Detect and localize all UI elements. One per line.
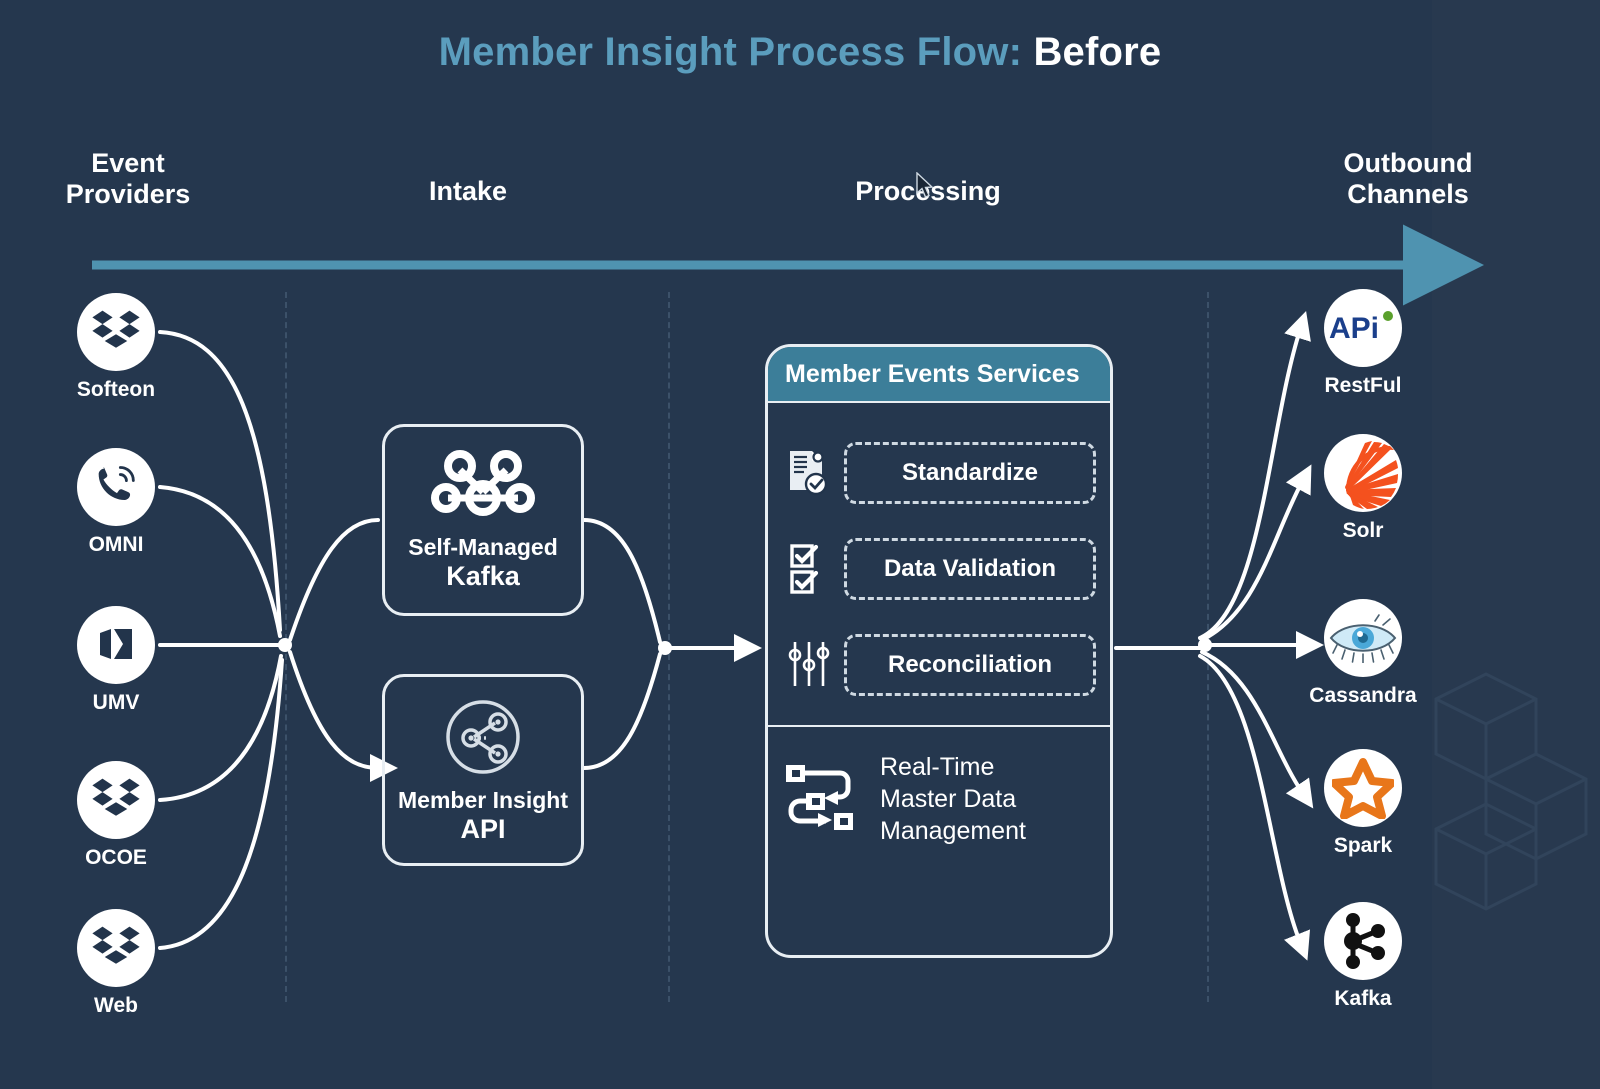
ocoe-disc [77, 761, 155, 839]
node-web[interactable]: Web [38, 909, 194, 1018]
dropbox-diamond-icon [89, 921, 143, 975]
page-title-accent: Before [1033, 30, 1161, 74]
node-softeon[interactable]: Softeon [38, 293, 194, 402]
solr-sunburst-icon [1324, 434, 1402, 512]
page-title-main: Member Insight Process Flow: [439, 30, 1023, 74]
process-step-standardize[interactable]: Standardize [768, 425, 1110, 521]
document-check-icon [785, 448, 833, 498]
sliders-icon [785, 638, 833, 692]
node-label: Cassandra [1285, 684, 1441, 708]
checkboxes-icon [786, 542, 832, 596]
page-title: Member Insight Process Flow: Before [0, 30, 1600, 75]
node-label: OMNI [38, 533, 194, 557]
api-share-icon [441, 695, 525, 779]
node-umv[interactable]: UMV [38, 606, 194, 715]
workflow-icon [782, 757, 866, 837]
phone-signal-icon [90, 461, 142, 513]
divider-providers-intake [285, 292, 287, 1002]
mdm-label: Real-Time Master Data Management [880, 751, 1026, 847]
kafka-out-disc [1324, 902, 1402, 980]
process-step-reconciliation[interactable]: Reconciliation [768, 617, 1110, 713]
link-api-midjunction [584, 654, 660, 768]
node-label: Spark [1285, 834, 1441, 858]
card-line2: API [460, 814, 505, 845]
junction-dot-right [1198, 638, 1212, 652]
standardize-icon-wrap [778, 448, 840, 498]
cassandra-disc [1324, 599, 1402, 677]
step-label: Data Validation [884, 555, 1056, 583]
kafka-nodes-icon [430, 448, 536, 526]
api-logo-icon: APi [1326, 306, 1400, 350]
reconciliation-chip[interactable]: Reconciliation [844, 634, 1096, 696]
api-icon-wrap [441, 695, 525, 784]
node-ocoe[interactable]: OCOE [38, 761, 194, 870]
link-kafka-midjunction [584, 520, 660, 642]
card-line1: Self-Managed [408, 535, 558, 561]
divider-processing-outbound [1207, 292, 1209, 1002]
link-junction-api [290, 652, 378, 768]
process-footer-real-time-mdm[interactable]: Real-Time Master Data Management [768, 727, 1110, 847]
node-kafka-out[interactable]: Kafka [1285, 902, 1441, 1011]
node-label: Web [38, 994, 194, 1018]
column-header-processing: Processing [820, 176, 1036, 207]
cassandra-eye-icon [1327, 613, 1399, 663]
omni-disc [77, 448, 155, 526]
umv-monogram-icon [92, 621, 140, 669]
node-omni[interactable]: OMNI [38, 448, 194, 557]
standardize-chip[interactable]: Standardize [844, 442, 1096, 504]
divider-intake-processing [668, 292, 670, 1002]
card-self-managed-kafka[interactable]: Self-Managed Kafka [382, 424, 584, 616]
panel-body: Standardize [768, 403, 1110, 847]
spark-disc [1324, 749, 1402, 827]
panel-title: Member Events Services [785, 360, 1080, 389]
kafka-icon-wrap [430, 448, 536, 531]
node-restful[interactable]: APi RestFul [1285, 289, 1441, 398]
node-label: Kafka [1285, 987, 1441, 1011]
node-cassandra[interactable]: Cassandra [1285, 599, 1441, 708]
panel-header: Member Events Services [768, 347, 1110, 403]
node-label: Softeon [38, 378, 194, 402]
node-solr[interactable]: Solr [1285, 434, 1441, 543]
member-events-services-panel[interactable]: Member Events Services [765, 344, 1113, 958]
web-disc [77, 909, 155, 987]
data-validation-icon-wrap [778, 542, 840, 596]
node-label: RestFul [1285, 374, 1441, 398]
node-label: Solr [1285, 519, 1441, 543]
spark-star-icon [1332, 757, 1394, 819]
softeon-disc [77, 293, 155, 371]
solr-disc [1324, 434, 1402, 512]
step-label: Standardize [902, 459, 1038, 487]
restful-disc: APi [1324, 289, 1402, 367]
dropbox-diamond-icon [89, 305, 143, 359]
diagram-canvas: Member Insight Process Flow: Before Even… [0, 0, 1600, 1089]
card-line2: Kafka [446, 561, 520, 592]
data-validation-chip[interactable]: Data Validation [844, 538, 1096, 600]
node-spark[interactable]: Spark [1285, 749, 1441, 858]
node-label: UMV [38, 691, 194, 715]
process-step-data-validation[interactable]: Data Validation [768, 521, 1110, 617]
kafka-nodes-icon [1335, 910, 1391, 972]
card-line1: Member Insight [398, 788, 568, 814]
step-label: Reconciliation [888, 651, 1052, 679]
mdm-icon-wrap [782, 757, 866, 842]
column-header-intake: Intake [360, 176, 576, 207]
column-header-outbound-channels: Outbound Channels [1300, 148, 1516, 210]
svg-text:APi: APi [1329, 312, 1379, 345]
reconciliation-icon-wrap [778, 638, 840, 692]
card-member-insight-api[interactable]: Member Insight API [382, 674, 584, 866]
node-label: OCOE [38, 846, 194, 870]
link-junction-kafka [290, 520, 378, 640]
dropbox-diamond-icon [89, 773, 143, 827]
column-header-event-providers: Event Providers [20, 148, 236, 210]
umv-disc [77, 606, 155, 684]
